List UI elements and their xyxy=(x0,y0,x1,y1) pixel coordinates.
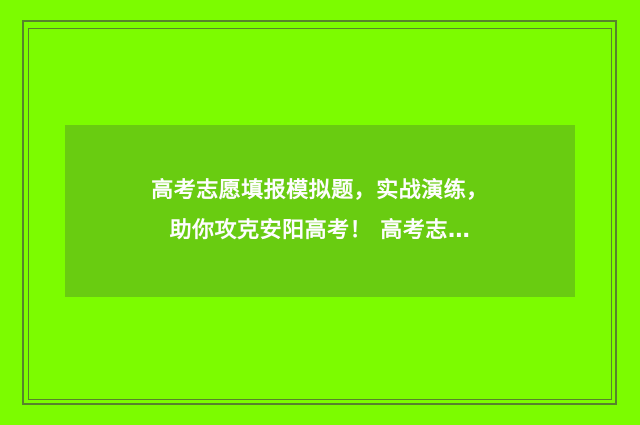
caption-plate: 高考志愿填报模拟题，实战演练， 助你攻克安阳高考！ 高考志… xyxy=(65,125,575,297)
caption-text-block: 高考志愿填报模拟题，实战演练， 助你攻克安阳高考！ 高考志… xyxy=(141,171,499,251)
banner-canvas: 高考志愿填报模拟题，实战演练， 助你攻克安阳高考！ 高考志… xyxy=(0,0,640,425)
caption-line-2: 助你攻克安阳高考！ 高考志… xyxy=(151,211,489,251)
caption-line-1: 高考志愿填报模拟题，实战演练， xyxy=(151,171,489,211)
